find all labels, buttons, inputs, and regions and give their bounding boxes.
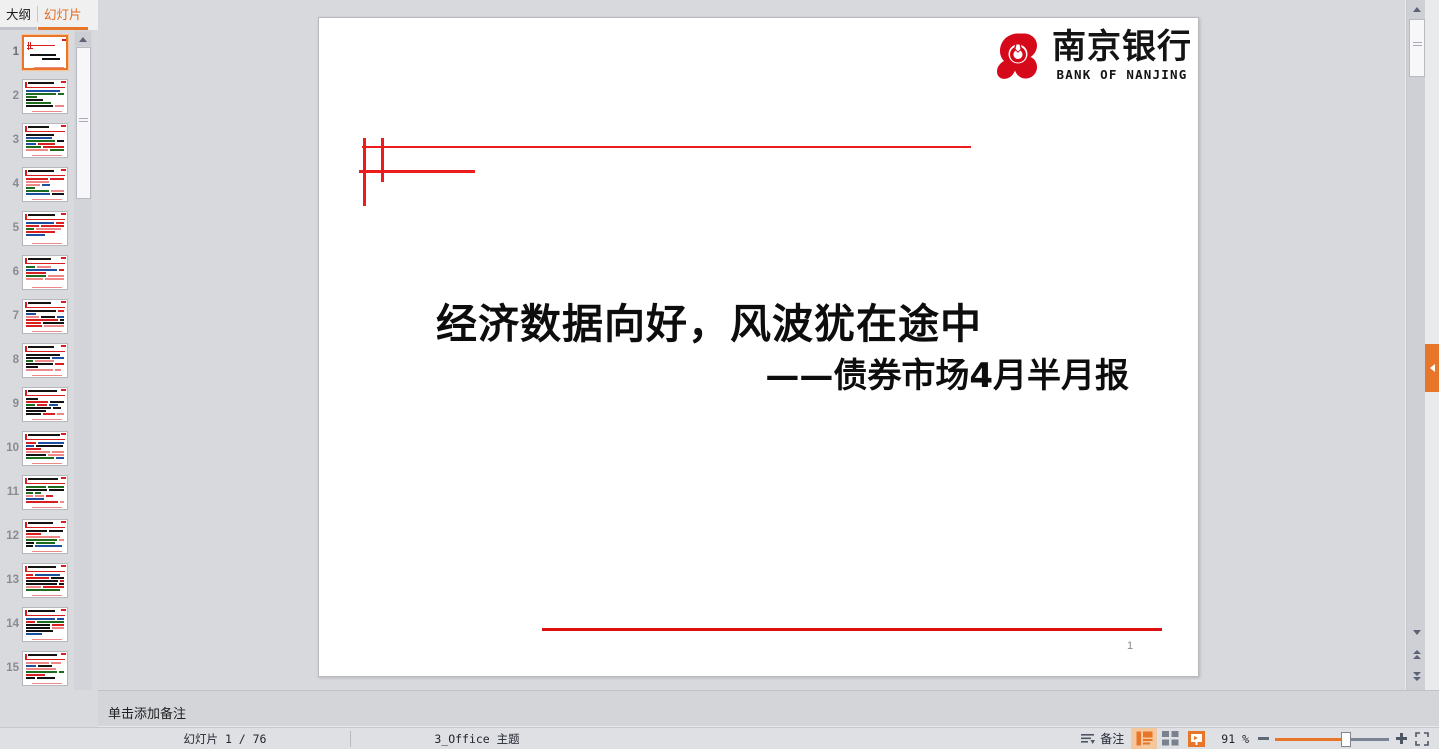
thumbnail-mark	[26, 269, 57, 271]
tab-outline[interactable]: 大纲	[0, 0, 37, 30]
thumbnail-mark	[26, 93, 56, 95]
tab-outline-label: 大纲	[6, 4, 31, 23]
thumbnail-preview[interactable]	[22, 475, 68, 510]
thumbnail-mark	[26, 674, 45, 676]
thumbnail-mark	[49, 404, 58, 406]
thumbnail-mark	[61, 301, 66, 303]
expand-panel-arrow-icon	[1430, 364, 1435, 372]
thumbnail-mark	[26, 542, 34, 544]
thumbnail-mark	[28, 346, 54, 348]
thumbnail-mark	[26, 398, 38, 400]
thumbnail-mark	[26, 486, 46, 488]
zoom-number: 91	[1221, 732, 1235, 746]
thumbnail-mark	[26, 316, 39, 318]
thumbnail-mark	[28, 522, 53, 524]
thumbnail-mark	[26, 492, 33, 494]
thumbnail-mark	[42, 58, 60, 60]
scroll-down-button[interactable]	[1408, 624, 1425, 640]
thumbnail-mark	[50, 149, 64, 151]
thumbnail-preview[interactable]	[22, 79, 68, 114]
zoom-out-button[interactable]	[1253, 728, 1273, 749]
slide-title[interactable]: 经济数据向好，风波犹在途中	[319, 290, 1099, 350]
thumbnail-preview[interactable]	[22, 167, 68, 202]
slide-canvas[interactable]: 南京银行 BANK OF NANJING 经济数据向好，风波犹在途中 ——债券市…	[318, 17, 1199, 677]
thumbnail-mark	[26, 325, 42, 327]
thumbnail-mark	[51, 577, 64, 579]
thumbnail-mark	[51, 190, 64, 192]
thumbnail-mark	[25, 615, 65, 616]
thumbnail-mark	[27, 48, 33, 49]
thumbnail-mark	[26, 96, 37, 98]
scroll-up-button[interactable]	[1408, 2, 1425, 17]
thumbnail-mark	[28, 434, 60, 436]
thumbnail-mark	[28, 258, 51, 260]
thumbnail-mark	[26, 580, 58, 582]
thumbnail-mark	[36, 228, 61, 230]
thumbnail-mark	[26, 536, 60, 538]
thumbnail-mark	[28, 610, 55, 612]
thumbnail-mark	[42, 184, 50, 186]
thumbnail-number: 3	[0, 134, 22, 146]
thumbnail-number: 10	[0, 442, 22, 454]
minus-icon	[1258, 737, 1269, 740]
thumbnail-preview[interactable]	[22, 211, 68, 246]
thumbnail-mark	[25, 483, 65, 484]
thumbnail-mark	[61, 521, 66, 523]
thumbnail-mark	[26, 451, 50, 453]
thumbnail-mark	[26, 181, 49, 183]
thumbnail-mark	[25, 131, 65, 132]
thumbnail-mark	[43, 586, 64, 588]
zoom-slider-track	[1351, 738, 1389, 741]
thumbnail-number: 1	[0, 46, 22, 58]
thumbnail-mark	[26, 228, 34, 230]
bank-logo: 南京银行 BANK OF NANJING	[993, 30, 1192, 82]
thumbnail-preview[interactable]	[22, 651, 68, 686]
thumbnail-mark	[46, 495, 53, 497]
status-bar: 幻灯片 1 / 76 3_Office 主题 备注	[0, 727, 1439, 749]
thumbnail-scroll-up-button[interactable]	[75, 32, 91, 46]
bank-logo-chinese: 南京银行	[1052, 30, 1192, 66]
thumbnail-mark	[26, 319, 58, 321]
thumbnail-mark	[61, 477, 66, 479]
thumbnail-mark	[56, 222, 64, 224]
thumbnail-mark	[43, 322, 64, 324]
thumbnail-mark	[60, 501, 64, 503]
slide-bottom-rule	[542, 628, 1162, 631]
thumbnail-mark	[45, 278, 64, 280]
thumbnail-mark	[41, 225, 64, 227]
scrollbar-thumb[interactable]	[1409, 19, 1425, 77]
thumbnail-mark	[26, 586, 41, 588]
thumbnail-mark	[32, 199, 62, 201]
thumbnail-mark	[52, 627, 64, 629]
thumbnail-mark	[59, 539, 64, 541]
thumbnail-mark	[26, 222, 54, 224]
thumbnail-mark	[43, 413, 55, 415]
slide-editing-area[interactable]: 南京银行 BANK OF NANJING 经济数据向好，风波犹在途中 ——债券市…	[98, 0, 1405, 690]
thumbnail-mark	[28, 170, 54, 172]
zoom-slider-thumb[interactable]	[1341, 732, 1351, 747]
thumbnail-mark	[32, 683, 62, 685]
thumbnail-number: 7	[0, 310, 22, 322]
thumbnail-mark	[53, 407, 61, 409]
thumbnail-item[interactable]: 14	[0, 602, 80, 646]
zoom-slider[interactable]	[1273, 728, 1391, 749]
thumbnail-mark	[26, 278, 43, 280]
thumbnail-mark	[26, 90, 60, 92]
thumbnail-mark	[26, 668, 56, 670]
thumbnail-preview[interactable]	[22, 563, 68, 598]
thumbnail-mark	[26, 630, 53, 632]
slide-thumbnail-panel: 大纲 幻灯片 12345678910111213141516	[0, 0, 98, 728]
thumbnail-mark	[32, 551, 62, 553]
thumbnail-mark	[26, 583, 57, 585]
thumbnail-mark	[26, 225, 39, 227]
thumbnail-mark	[26, 677, 35, 679]
thumbnail-mark	[26, 134, 54, 136]
thumbnail-mark	[32, 111, 62, 113]
thumbnail-mark	[26, 143, 36, 145]
thumbnail-mark	[26, 407, 51, 409]
slide-area-scrollbar[interactable]	[1406, 0, 1425, 690]
thumbnail-mark	[26, 589, 60, 591]
thumbnail-mark	[50, 178, 64, 180]
thumbnail-preview[interactable]	[22, 431, 68, 466]
view-slide-sorter-button[interactable]	[1157, 728, 1183, 749]
thumbnail-mark	[60, 319, 64, 321]
thumbnail-item[interactable]: 3	[0, 118, 80, 162]
thumbnail-mark	[34, 67, 64, 69]
thumbnail-mark	[26, 266, 35, 268]
thumbnail-mark	[30, 54, 56, 56]
thumbnail-mark	[26, 671, 57, 673]
thumbnail-mark	[38, 665, 52, 667]
thumbnail-mark	[48, 454, 64, 456]
thumbnail-mark	[61, 81, 66, 83]
thumbnail-mark	[25, 439, 65, 440]
thumbnail-mark	[57, 316, 64, 318]
thumbnail-preview[interactable]	[22, 343, 68, 378]
thumbnail-mark	[26, 190, 49, 192]
thumbnail-mark	[61, 169, 66, 171]
thumbnail-mark	[28, 214, 55, 216]
notes-pane[interactable]: 单击添加备注	[98, 690, 1439, 726]
nanjing-bank-rose-logo-icon	[993, 31, 1043, 81]
thumbnail-mark	[60, 580, 64, 582]
thumbnail-mark	[37, 621, 64, 623]
thumbnail-mark	[26, 357, 50, 359]
thumbnail-mark	[25, 175, 65, 176]
thumbnail-mark	[52, 624, 64, 626]
thumbnail-mark	[57, 140, 64, 142]
thumbnail-mark	[55, 369, 61, 371]
thumbnail-mark	[25, 659, 65, 660]
thumbnail-preview[interactable]	[22, 299, 68, 334]
thumbnail-mark	[26, 448, 41, 450]
thumbnail-mark	[26, 187, 35, 189]
tab-slides[interactable]: 幻灯片	[38, 0, 88, 30]
status-bar-right-group: 备注	[1074, 728, 1433, 749]
notes-toggle-button[interactable]: 备注	[1074, 728, 1131, 749]
thumbnail-item[interactable]: 2	[0, 74, 80, 118]
slide-sorter-icon	[1162, 731, 1179, 746]
thumbnail-preview[interactable]	[22, 35, 68, 70]
thumbnail-mark	[35, 360, 54, 362]
thumbnail-mark	[32, 243, 62, 245]
thumbnail-mark	[26, 501, 58, 503]
thumbnail-mark	[36, 542, 55, 544]
thumbnail-mark	[28, 82, 54, 84]
thumbnail-mark	[28, 302, 51, 304]
thumbnail-mark	[32, 155, 62, 157]
thumbnail-mark	[26, 621, 35, 623]
zoom-slider-filled-track	[1275, 738, 1345, 741]
plus-icon	[1396, 733, 1407, 744]
decoration-vertical-short	[381, 138, 384, 182]
thumbnail-mark	[25, 527, 65, 528]
thumbnail-mark	[58, 310, 64, 312]
notes-placeholder[interactable]: 单击添加备注	[108, 703, 186, 722]
thumbnail-number: 9	[0, 398, 22, 410]
thumbnail-mark	[38, 442, 64, 444]
view-normal-button[interactable]	[1131, 728, 1157, 749]
thumbnail-mark	[26, 322, 41, 324]
fit-to-window-button[interactable]	[1411, 728, 1433, 749]
thumbnail-mark	[26, 272, 46, 274]
view-reading-button[interactable]	[1183, 728, 1209, 749]
thumbnail-item[interactable]: 1	[0, 30, 80, 74]
notes-toggle-label: 备注	[1100, 730, 1124, 747]
thumbnail-mark	[26, 624, 50, 626]
decoration-horizontal-short	[359, 170, 475, 173]
thumbnail-mark	[25, 307, 65, 308]
thumbnail-mark	[61, 609, 66, 611]
thumbnail-item[interactable]: 12	[0, 514, 80, 558]
thumbnail-preview[interactable]	[22, 123, 68, 158]
thumbnail-mark	[26, 489, 47, 491]
thumbnail-mark	[37, 677, 55, 679]
thumbnail-item[interactable]: 6	[0, 250, 80, 294]
thumbnail-mark	[26, 369, 53, 371]
thumbnail-item[interactable]: 8	[0, 338, 80, 382]
thumbnail-mark	[28, 654, 57, 656]
thumbnail-mark	[62, 39, 68, 41]
thumbnail-mark	[59, 269, 64, 271]
thumbnail-mark	[27, 45, 55, 46]
thumbnail-item[interactable]: 4	[0, 162, 80, 206]
thumbnail-mark	[57, 413, 64, 415]
status-slide-count: 幻灯片 1 / 76	[100, 728, 350, 749]
thumbnail-item[interactable]: 10	[0, 426, 80, 470]
thumbnail-mark	[32, 419, 62, 421]
thumbnail-mark	[26, 442, 36, 444]
thumbnail-mark	[59, 671, 64, 673]
thumbnail-mark	[26, 533, 41, 535]
thumbnail-mark	[48, 275, 64, 277]
scroll-down-icon	[1413, 630, 1421, 635]
thumbnail-mark	[38, 143, 55, 145]
thumbnail-mark	[26, 178, 48, 180]
previous-slide-icon	[1413, 655, 1421, 659]
zoom-percent-value: 91 %	[1209, 732, 1253, 746]
thumbnail-mark	[26, 404, 35, 406]
thumbnail-mark	[26, 313, 36, 315]
thumbnail-mark	[32, 287, 62, 289]
previous-slide-icon	[1413, 650, 1421, 654]
thumbnail-mark	[26, 633, 42, 635]
thumbnail-mark	[61, 433, 66, 435]
thumbnail-item[interactable]: 5	[0, 206, 80, 250]
panel-tab-strip: 大纲 幻灯片	[0, 0, 98, 30]
thumbnail-mark	[26, 577, 49, 579]
thumbnail-preview[interactable]	[22, 519, 68, 554]
thumbnail-mark	[55, 105, 64, 107]
thumbnail-mark	[26, 413, 41, 415]
thumbnail-mark	[35, 574, 60, 576]
thumbnail-scrollbar[interactable]	[74, 30, 92, 690]
thumbnail-mark	[61, 125, 66, 127]
next-slide-icon	[1413, 672, 1421, 676]
expand-side-panel-button[interactable]	[1425, 344, 1439, 392]
tab-slides-label: 幻灯片	[44, 4, 82, 23]
thumbnail-number: 12	[0, 530, 22, 542]
thumbnail-mark	[28, 478, 58, 480]
thumbnail-mark	[37, 266, 51, 268]
thumbnail-mark	[48, 486, 64, 488]
thumbnail-mark	[41, 316, 55, 318]
thumbnail-preview[interactable]	[22, 387, 68, 422]
thumbnail-mark	[61, 389, 66, 391]
grip-line	[1413, 45, 1422, 46]
thumbnail-mark	[51, 662, 61, 664]
scroll-up-icon	[79, 37, 87, 42]
thumbnail-number: 11	[0, 486, 22, 498]
thumbnail-mark	[26, 539, 57, 541]
thumbnail-mark	[25, 395, 65, 396]
thumbnail-number: 6	[0, 266, 22, 278]
thumbnail-preview[interactable]	[22, 255, 68, 290]
normal-view-icon	[1136, 731, 1153, 746]
zoom-unit: %	[1242, 732, 1249, 746]
grip-line	[79, 118, 88, 119]
thumbnail-mark	[26, 366, 38, 368]
thumbnail-mark	[26, 140, 55, 142]
thumbnail-mark	[26, 137, 52, 139]
thumbnail-mark	[58, 93, 64, 95]
thumbnail-mark	[26, 445, 34, 447]
thumbnail-mark	[52, 193, 64, 195]
thumbnail-mark	[25, 263, 65, 264]
thumbnail-mark	[32, 331, 62, 333]
next-slide-button[interactable]	[1408, 666, 1425, 686]
thumbnail-number: 15	[0, 662, 22, 674]
thumbnail-mark	[26, 149, 48, 151]
thumbnail-mark	[26, 665, 36, 667]
thumbnail-mark	[26, 498, 44, 500]
decoration-vertical-long	[363, 138, 366, 206]
thumbnail-mark	[26, 184, 40, 186]
thumbnail-item[interactable]: 15	[0, 646, 80, 690]
thumbnail-mark	[32, 595, 62, 597]
slide-subtitle[interactable]: ——债券市场4月半月报	[319, 348, 1129, 397]
thumbnail-number: 14	[0, 618, 22, 630]
thumbnail-mark	[50, 401, 64, 403]
fit-to-window-icon	[1415, 732, 1429, 746]
thumbnail-mark	[56, 457, 64, 459]
powerpoint-window: 大纲 幻灯片 12345678910111213141516	[0, 0, 1439, 749]
thumbnail-item[interactable]: 13	[0, 558, 80, 602]
bank-logo-text: 南京银行 BANK OF NANJING	[1052, 30, 1192, 82]
thumbnail-mark	[26, 627, 50, 629]
previous-slide-button[interactable]	[1408, 644, 1425, 664]
thumbnail-mark	[32, 507, 62, 509]
thumbnail-mark	[26, 457, 54, 459]
grip-line	[79, 121, 88, 122]
bank-logo-english: BANK OF NANJING	[1057, 67, 1188, 82]
thumbnail-mark	[35, 545, 62, 547]
thumbnail-mark	[26, 545, 33, 547]
thumbnail-number: 13	[0, 574, 22, 586]
thumbnail-mark	[26, 231, 55, 233]
thumbnail-number: 2	[0, 90, 22, 102]
thumbnail-mark	[61, 345, 66, 347]
thumbnail-mark	[28, 566, 56, 568]
thumbnail-mark	[26, 310, 56, 312]
thumbnail-mark	[26, 275, 46, 277]
thumbnail-mark	[61, 565, 66, 567]
thumbnail-mark	[61, 213, 66, 215]
thumbnail-item[interactable]: 7	[0, 294, 80, 338]
thumbnail-mark	[26, 662, 49, 664]
thumbnail-mark	[26, 193, 50, 195]
thumbnail-mark	[35, 492, 41, 494]
slide-page-number: 1	[1117, 640, 1143, 652]
thumbnail-mark	[28, 126, 49, 128]
reading-view-icon	[1188, 731, 1205, 747]
next-slide-icon	[1413, 677, 1421, 681]
thumbnail-number: 5	[0, 222, 22, 234]
thumbnail-mark	[26, 360, 33, 362]
thumbnail-mark	[25, 571, 65, 572]
thumbnail-mark	[35, 495, 44, 497]
status-theme-name: 3_Office 主题	[352, 728, 602, 749]
thumbnail-item[interactable]: 11	[0, 470, 80, 514]
thumbnail-item[interactable]: 9	[0, 382, 80, 426]
thumbnail-number: 4	[0, 178, 22, 190]
thumbnail-mark	[37, 404, 47, 406]
thumbnail-mark	[25, 219, 65, 220]
thumbnail-mark	[26, 530, 47, 532]
thumbnail-mark	[28, 390, 57, 392]
thumbnail-mark	[55, 363, 64, 365]
thumbnail-list: 12345678910111213141516	[0, 30, 80, 690]
thumbnail-mark	[26, 234, 45, 236]
thumbnail-mark	[59, 583, 64, 585]
thumbnail-mark	[61, 653, 66, 655]
thumbnail-mark	[26, 146, 41, 148]
thumbnail-mark	[25, 351, 65, 352]
thumbnail-mark	[32, 639, 62, 641]
thumbnail-preview[interactable]	[22, 607, 68, 642]
thumbnail-mark	[26, 401, 48, 403]
thumbnail-number: 8	[0, 354, 22, 366]
thumbnail-mark	[26, 99, 43, 101]
thumbnail-scrollbar-thumb[interactable]	[76, 47, 91, 199]
thumbnail-mark	[26, 574, 33, 576]
scroll-up-icon	[1413, 7, 1421, 12]
zoom-in-button[interactable]	[1391, 728, 1411, 749]
